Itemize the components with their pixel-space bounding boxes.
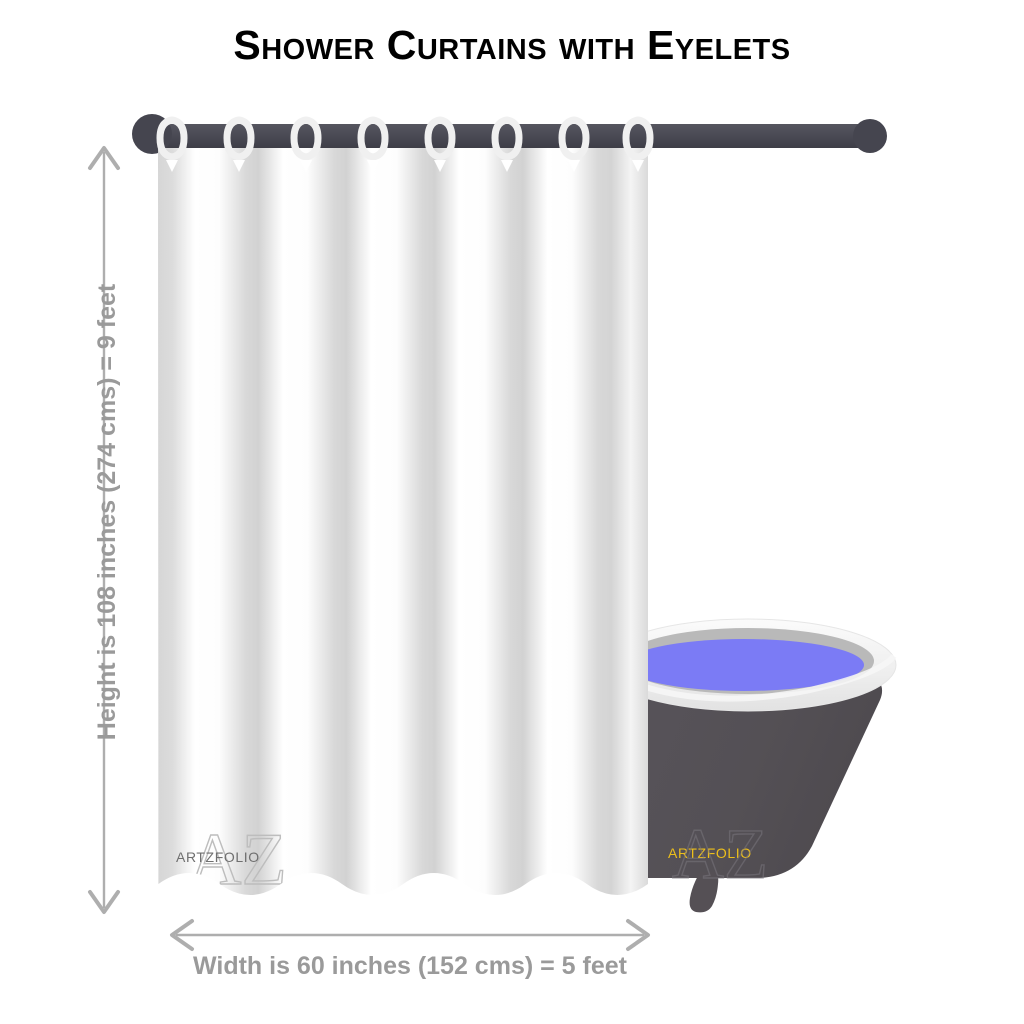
- product-illustration: ARTZFOLIO AZ AZ ARTZFOLIO: [0, 0, 1024, 1024]
- width-dimension-arrow: [172, 921, 648, 949]
- rod-finial-right: [853, 119, 887, 153]
- height-dimension-label: Height is 108 inches (274 cms) = 9 feet: [93, 162, 122, 862]
- width-dimension-label: Width is 60 inches (152 cms) = 5 feet: [0, 952, 820, 981]
- watermark-bathtub: ARTZFOLIO AZ: [668, 814, 768, 894]
- infographic-canvas: Shower Curtains with Eyelets: [0, 0, 1024, 1024]
- watermark-curtain-text: ARTZFOLIO: [176, 849, 260, 865]
- shower-curtain: AZ ARTZFOLIO: [158, 148, 648, 901]
- curtain-panel: [158, 148, 648, 895]
- watermark-curtain: AZ ARTZFOLIO: [176, 819, 287, 901]
- watermark-bathtub-monogram: AZ: [672, 814, 768, 894]
- rod-bar: [150, 124, 872, 148]
